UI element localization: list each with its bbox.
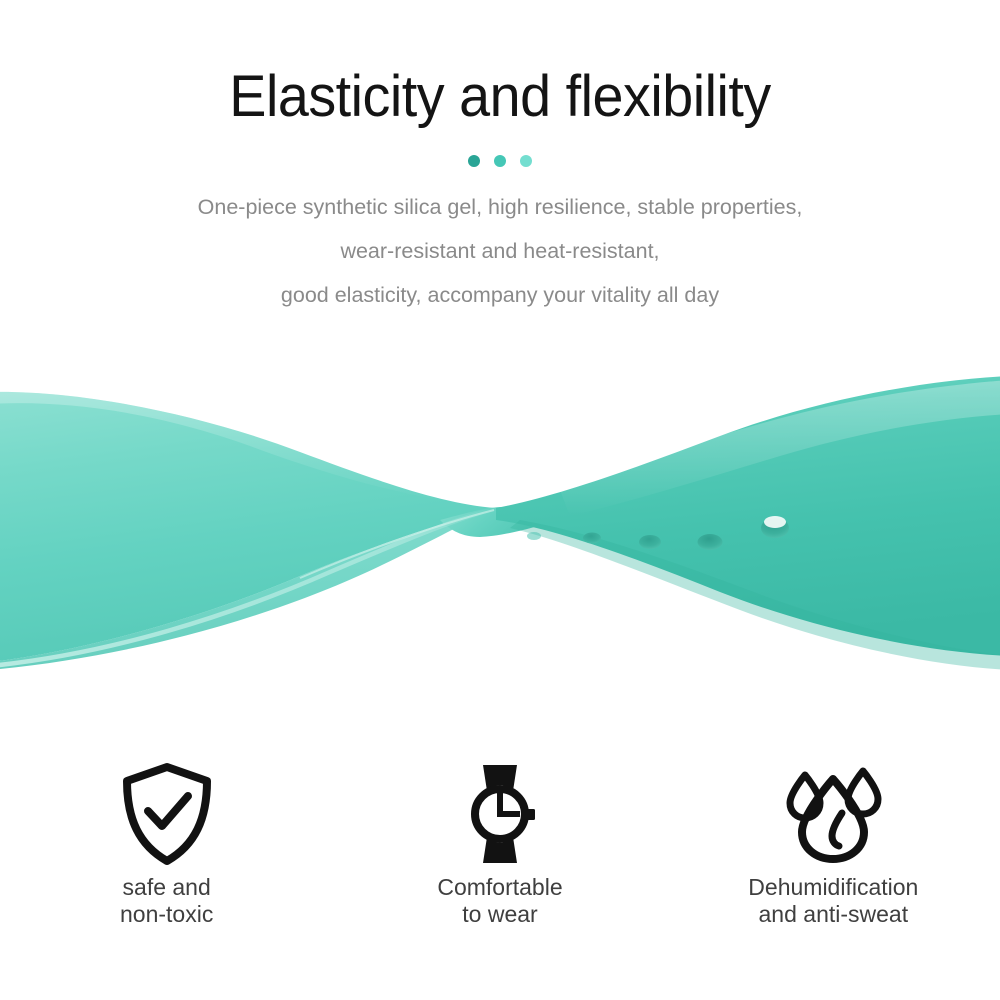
product-feature-banner: Elasticity and flexibility One-piece syn… <box>0 0 1000 1000</box>
adjustment-hole-1 <box>583 533 601 544</box>
wristwatch-icon <box>452 760 548 868</box>
decorative-dots <box>0 154 1000 168</box>
shield-check-icon <box>119 760 215 868</box>
page-title: Elasticity and flexibility <box>20 0 980 132</box>
subtitle-line-2: wear-resistant and heat-resistant, <box>0 229 1000 273</box>
adjustment-hole-2 <box>639 535 661 549</box>
adjustment-hole-0 <box>527 532 541 540</box>
subtitle-line-3: good elasticity, accompany your vitality… <box>0 273 1000 317</box>
feature-label-line-1: safe and <box>123 874 211 900</box>
feature-label-comfortable-to-wear: Comfortable to wear <box>437 874 562 928</box>
feature-label-safe-non-toxic: safe and non-toxic <box>120 874 213 928</box>
dot-1-icon <box>468 155 480 167</box>
feature-label-line-2: and anti-sweat <box>748 901 918 928</box>
dot-3-icon <box>520 155 532 167</box>
feature-label-dehumidification: Dehumidification and anti-sweat <box>748 874 918 928</box>
band-left-blade <box>0 392 496 662</box>
product-image <box>0 370 1000 690</box>
feature-item-comfortable-to-wear: Comfortable to wear <box>333 760 666 928</box>
feature-label-line-2: non-toxic <box>120 901 213 928</box>
feature-label-line-2: to wear <box>437 901 562 928</box>
subtitle-text: One-piece synthetic silica gel, high res… <box>0 168 1000 317</box>
feature-label-line-1: Dehumidification <box>748 874 918 900</box>
feature-item-dehumidification: Dehumidification and anti-sweat <box>667 760 1000 928</box>
dot-2-icon <box>494 155 506 167</box>
header-section: Elasticity and flexibility One-piece syn… <box>0 0 1000 317</box>
adjustment-hole-4-gloss <box>764 516 786 528</box>
feature-list: safe and non-toxic <box>0 760 1000 950</box>
adjustment-hole-3 <box>698 534 723 550</box>
subtitle-line-1: One-piece synthetic silica gel, high res… <box>0 185 1000 229</box>
water-droplets-icon <box>780 760 886 868</box>
feature-label-line-1: Comfortable <box>437 874 562 900</box>
feature-item-safe-non-toxic: safe and non-toxic <box>0 760 333 928</box>
twisted-band-illustration <box>0 370 1000 690</box>
